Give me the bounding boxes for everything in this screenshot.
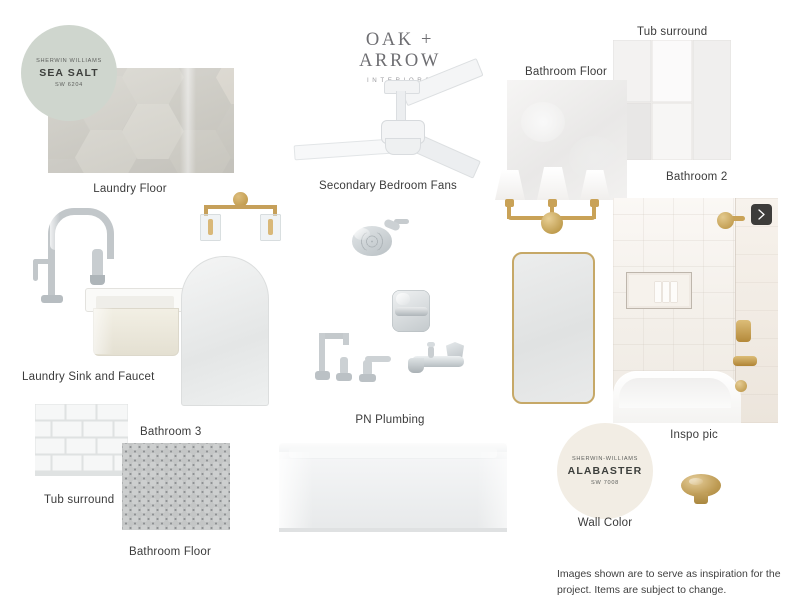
penny-round-overlay bbox=[122, 443, 230, 530]
brand-name: OAK + ARROW bbox=[325, 30, 475, 72]
mood-board: OAK + ARROW INTERIORS Laundry Floor SHER… bbox=[0, 0, 792, 612]
tub-spout-image bbox=[406, 340, 464, 380]
label-wall-color: Wall Color bbox=[578, 516, 633, 530]
paint-name: ALABASTER bbox=[568, 465, 643, 477]
laundry-sink-image bbox=[85, 288, 185, 358]
paint-code: SW 6204 bbox=[55, 82, 83, 88]
label-inspo-pic: Inspo pic bbox=[670, 428, 718, 442]
label-secondary-bedroom-fans: Secondary Bedroom Fans bbox=[319, 179, 457, 193]
showerhead-image bbox=[348, 218, 410, 260]
paint-name: SEA SALT bbox=[39, 67, 99, 79]
widespread-faucet-image bbox=[315, 333, 393, 385]
bathtub-image bbox=[279, 442, 507, 532]
label-laundry-floor: Laundry Floor bbox=[93, 182, 167, 196]
brass-cabinet-knob-image bbox=[681, 474, 721, 508]
paint-brand: SHERWIN-WILLIAMS bbox=[572, 456, 638, 462]
label-tub-surround-top: Tub surround bbox=[637, 25, 707, 39]
gold-framed-mirror-image bbox=[512, 252, 595, 404]
arched-mirror-image bbox=[181, 256, 269, 406]
paint-chip-sea-salt: SHERWIN WILLIAMS SEA SALT SW 6204 bbox=[21, 25, 117, 121]
brass-vanity-light-image bbox=[493, 166, 611, 238]
label-bathroom-3: Bathroom 3 bbox=[140, 425, 201, 439]
brass-sconce-image bbox=[196, 192, 284, 244]
paint-code: SW 7008 bbox=[591, 480, 619, 486]
label-bathroom-floor-top: Bathroom Floor bbox=[525, 65, 607, 79]
label-laundry-sink-and-faucet: Laundry Sink and Faucet bbox=[22, 370, 154, 384]
subway-tile-image bbox=[35, 404, 128, 476]
paint-chip-alabaster: SHERWIN-WILLIAMS ALABASTER SW 7008 bbox=[557, 423, 653, 519]
label-bathroom-floor-bottom: Bathroom Floor bbox=[129, 545, 211, 559]
paint-brand: SHERWIN WILLIAMS bbox=[36, 58, 102, 64]
disclaimer-text: Images shown are to serve as inspiration… bbox=[557, 566, 782, 599]
shower-valve-trim-image bbox=[392, 290, 430, 332]
label-tub-surround-bottom: Tub surround bbox=[44, 493, 114, 507]
chevron-right-icon bbox=[757, 209, 766, 220]
inspo-photo bbox=[613, 198, 778, 423]
label-pn-plumbing: PN Plumbing bbox=[355, 413, 424, 427]
tub-surround-tile-image bbox=[613, 40, 731, 160]
ceiling-fan-image bbox=[286, 80, 486, 175]
label-bathroom-2: Bathroom 2 bbox=[666, 170, 727, 184]
carousel-next-button[interactable] bbox=[751, 204, 772, 225]
